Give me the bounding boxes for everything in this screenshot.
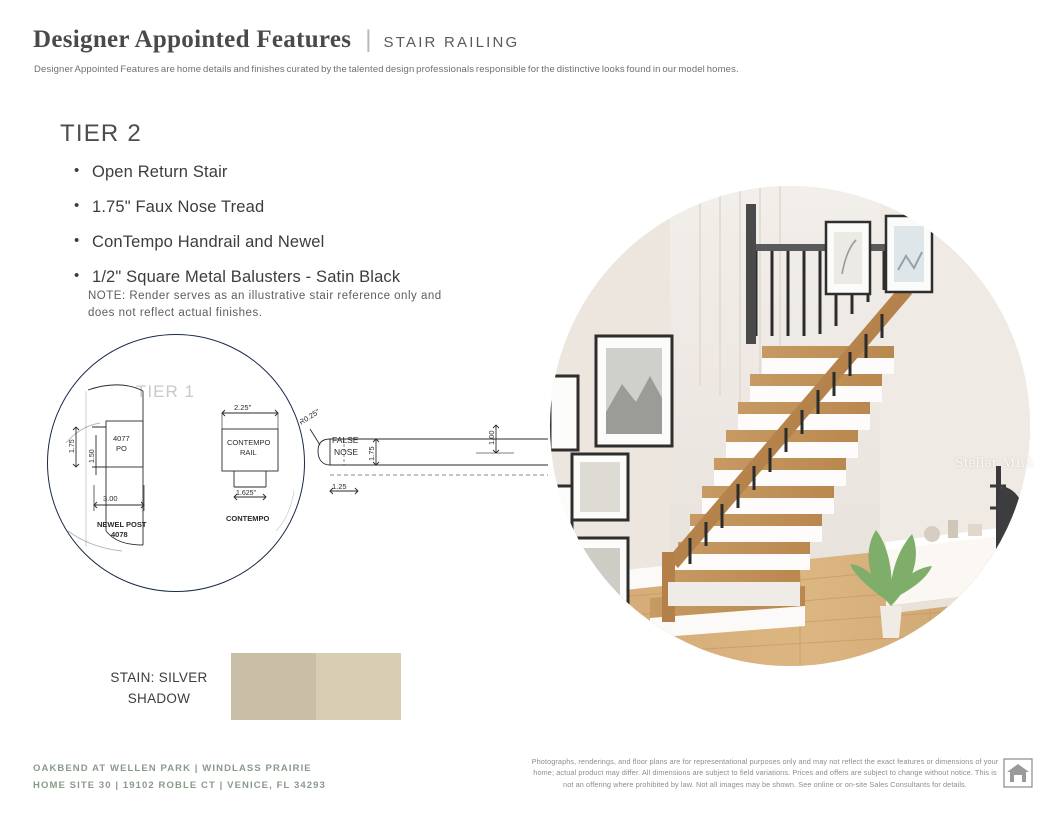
dim-1-50: 1.50 xyxy=(89,449,96,463)
contempo-rail-line1: CONTEMPO xyxy=(227,438,271,447)
stair-render-image xyxy=(550,186,1030,666)
header-divider: | xyxy=(365,26,371,54)
list-item: Open Return Stair xyxy=(72,163,400,182)
list-item: 1/2" Square Metal Balusters - Satin Blac… xyxy=(72,268,400,287)
header-subtitle: STAIR RAILING xyxy=(384,34,520,51)
page-header: Designer Appointed Features | STAIR RAIL… xyxy=(33,26,519,54)
tier-title: TIER 2 xyxy=(60,120,142,148)
false-nose-drawing: R0.25" FALSE NOSE 1.75 1.00 1.25 xyxy=(300,395,560,525)
post-label-po: PO xyxy=(116,444,127,453)
dim-1-75-right: 1.75 xyxy=(367,446,376,461)
stain-label-line1: STAIN: SILVER xyxy=(110,670,207,685)
dim-3-00: 3.00 xyxy=(103,494,118,503)
footer-line-2: HOME SITE 30 | 19102 ROBLE CT | VENICE, … xyxy=(33,777,326,794)
newel-detail-drawing: TIER 1 1.75 1.50 4077 PO xyxy=(48,335,304,591)
footer-disclaimer: Photographs, renderings, and floor plans… xyxy=(530,756,1000,790)
false-nose-detail: R0.25" FALSE NOSE 1.75 1.00 1.25 xyxy=(300,395,560,525)
false-nose-line2: NOSE xyxy=(334,447,358,457)
stain-label: STAIN: SILVER SHADOW xyxy=(99,668,219,710)
dim-1-25: 1.25 xyxy=(332,482,347,491)
dim-r025: R0.25" xyxy=(300,407,322,427)
swatch-left xyxy=(231,653,316,720)
newel-post-number: 4078 xyxy=(111,530,128,539)
dim-1-625: 1.625" xyxy=(236,490,257,497)
footer-community-info: OAKBEND AT WELLEN PARK | WINDLASS PRAIRI… xyxy=(33,760,326,794)
ghost-tier-label: TIER 1 xyxy=(136,382,195,401)
list-item: ConTempo Handrail and Newel xyxy=(72,233,400,252)
contempo-rail-line2: RAIL xyxy=(240,448,257,457)
detail-drawing-circle: TIER 1 1.75 1.50 4077 PO xyxy=(47,334,305,592)
dim-1-00: 1.00 xyxy=(487,430,496,445)
equal-housing-opportunity-icon xyxy=(1003,758,1033,788)
list-item: 1.75" Faux Nose Tread xyxy=(72,198,400,217)
page-title: Designer Appointed Features xyxy=(33,26,351,54)
contempo-caption: CONTEMPO xyxy=(226,514,270,523)
stain-swatch xyxy=(231,653,401,720)
stain-label-line2: SHADOW xyxy=(128,691,191,706)
feature-list: Open Return Stair 1.75" Faux Nose Tread … xyxy=(72,163,400,303)
stair-photo xyxy=(550,186,1030,666)
dim-2-25: 2.25" xyxy=(234,403,252,412)
swatch-right xyxy=(316,653,401,720)
newel-post-label: NEWEL POST xyxy=(97,520,147,529)
header-description: Designer Appointed Features are home det… xyxy=(34,64,739,75)
footer-line-1: OAKBEND AT WELLEN PARK | WINDLASS PRAIRI… xyxy=(33,760,326,777)
dim-1-75: 1.75 xyxy=(69,439,76,453)
false-nose-line1: FALSE xyxy=(332,435,359,445)
render-note: NOTE: Render serves as an illustrative s… xyxy=(88,288,458,321)
post-label-4077: 4077 xyxy=(113,434,130,443)
